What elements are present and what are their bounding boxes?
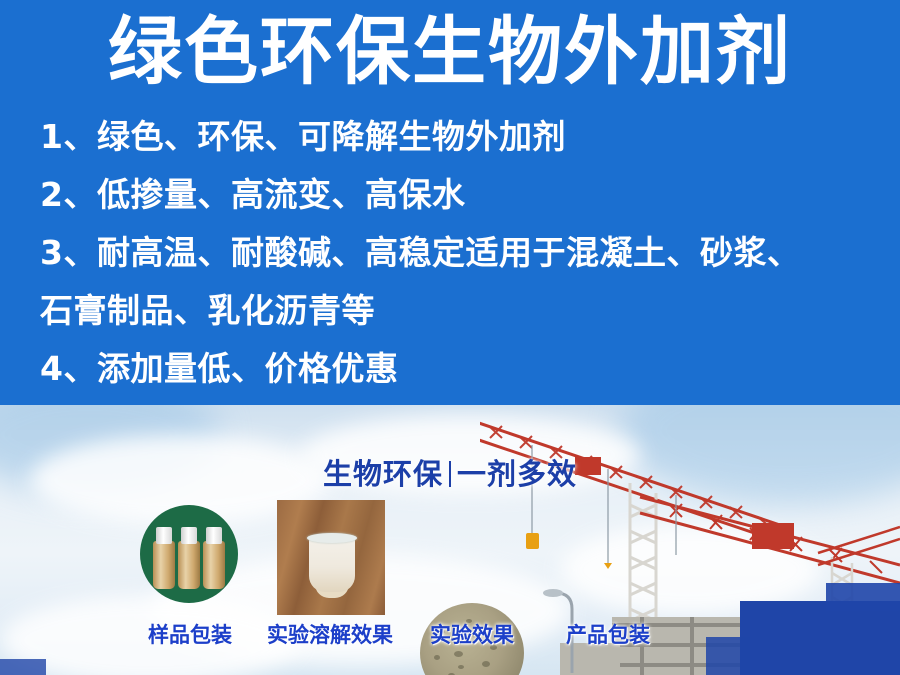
product-caption-4: 产品包装 xyxy=(518,622,698,648)
construction-scene: 生物环保一剂多效 xyxy=(0,405,900,675)
product-poster: 绿色环保生物外加剂 1、绿色、环保、可降解生物外加剂 2、低掺量、高流变、高保水… xyxy=(0,0,900,675)
feature-item-2: 2、低掺量、高流变、高保水 xyxy=(40,166,880,224)
product-image-dissolution-test[interactable] xyxy=(277,500,385,615)
product-image-sample-bottles[interactable] xyxy=(140,505,238,603)
scene-headline-left: 生物环保 xyxy=(323,457,443,491)
headline-divider xyxy=(449,461,451,487)
scene-headline: 生物环保一剂多效 xyxy=(0,457,900,491)
product-thumbnail-row: 样品包装 实验溶解效果 实验效果 产品包装 xyxy=(0,500,900,675)
feature-item-3: 3、耐高温、耐酸碱、高稳定适用于混凝土、砂浆、 xyxy=(40,224,880,282)
feature-list: 1、绿色、环保、可降解生物外加剂 2、低掺量、高流变、高保水 3、耐高温、耐酸碱… xyxy=(40,108,880,398)
headline-banner: 绿色环保生物外加剂 1、绿色、环保、可降解生物外加剂 2、低掺量、高流变、高保水… xyxy=(0,0,900,405)
feature-item-1: 1、绿色、环保、可降解生物外加剂 xyxy=(40,108,880,166)
scene-headline-right: 一剂多效 xyxy=(457,457,577,491)
page-title: 绿色环保生物外加剂 xyxy=(0,8,900,96)
feature-item-4: 4、添加量低、价格优惠 xyxy=(40,340,880,398)
feature-item-3-continued: 石膏制品、乳化沥青等 xyxy=(40,282,880,340)
